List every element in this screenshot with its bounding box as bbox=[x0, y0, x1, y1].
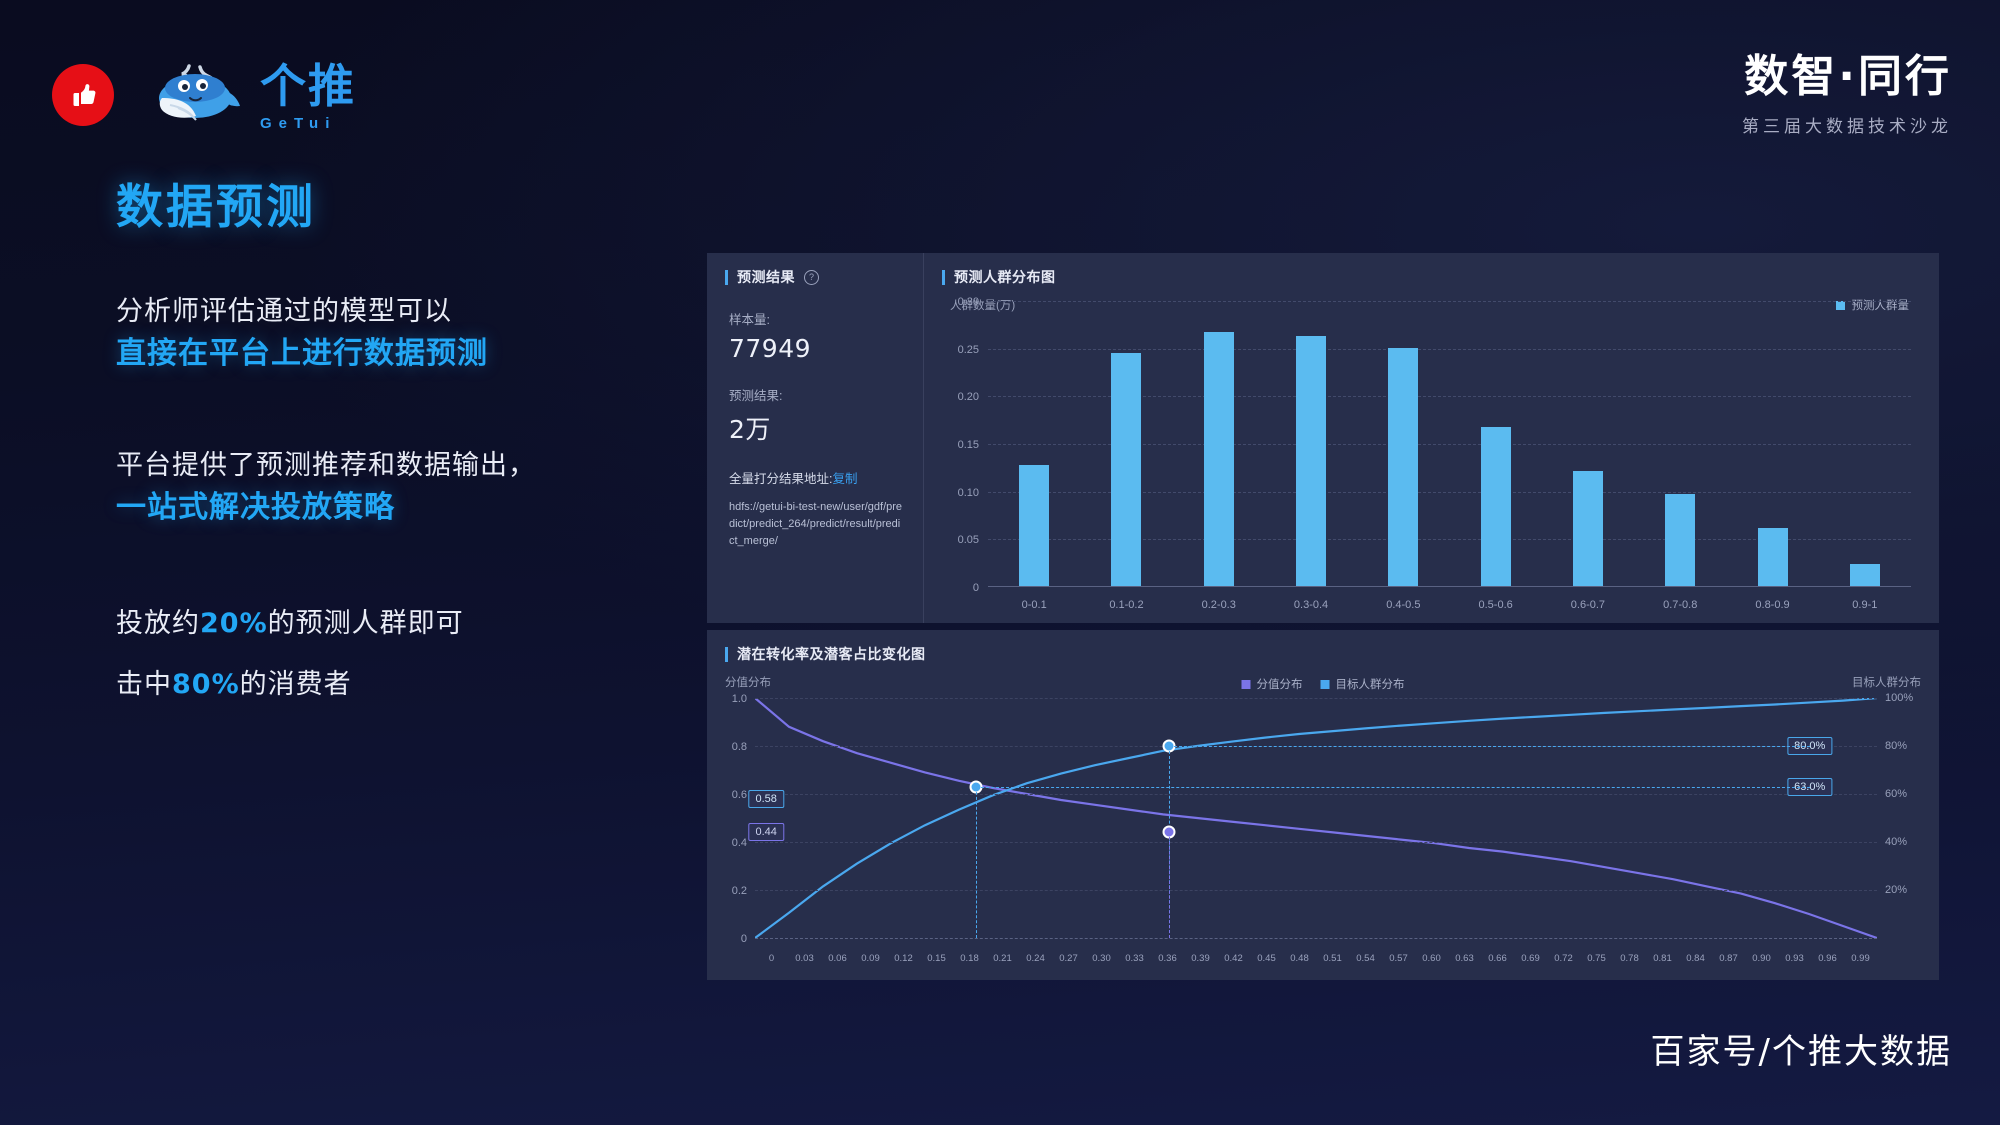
line-x-tick: 0.93 bbox=[1778, 953, 1811, 964]
line-series-score bbox=[755, 698, 1877, 938]
line-y-tick-right: 80% bbox=[1885, 740, 1907, 752]
line-chart-svg bbox=[755, 698, 1877, 938]
line-gridline: 0.6 bbox=[755, 794, 1877, 795]
line-x-tick: 0.78 bbox=[1613, 953, 1646, 964]
line-marker-guide bbox=[1169, 832, 1170, 938]
bar-chart-header: 预测人群分布图 bbox=[924, 253, 1939, 287]
line-gridline: 0 bbox=[755, 938, 1877, 939]
bar[interactable] bbox=[1019, 465, 1049, 587]
line-chart-header: 潜在转化率及潜客占比变化图 bbox=[707, 630, 1939, 664]
thumbs-up-icon bbox=[52, 64, 114, 126]
line-y-tick-right: 20% bbox=[1885, 884, 1907, 896]
bar-x-tick: 0.7-0.8 bbox=[1634, 599, 1726, 611]
line-x-tick: 0.90 bbox=[1745, 953, 1778, 964]
copy-line-6-a: 击中 bbox=[116, 669, 172, 699]
line-marker-guide bbox=[976, 787, 977, 938]
bar-x-tick: 0.6-0.7 bbox=[1542, 599, 1634, 611]
bar-x-tick: 0.3-0.4 bbox=[1265, 599, 1357, 611]
slide-copy: 分析师评估通过的模型可以 直接在平台上进行数据预测 平台提供了预测推荐和数据输出… bbox=[116, 292, 636, 705]
line-chart-area: 分值分布 目标人群分布 分值分布 目标人群分布 00.20.40.60.81.0… bbox=[707, 672, 1939, 980]
event-subtitle: 第三届大数据技术沙龙 bbox=[1742, 112, 1952, 137]
accent-bar-icon bbox=[942, 270, 945, 285]
copy-line-3: 平台提供了预测推荐和数据输出， bbox=[116, 446, 636, 485]
line-right-axis-label: 目标人群分布 bbox=[1852, 674, 1921, 690]
line-chart-plot: 00.20.40.60.81.020%40%60%80%100%0.580.44… bbox=[755, 698, 1877, 938]
line-y-tick-right: 60% bbox=[1885, 788, 1907, 800]
line-y-tick-left: 0.2 bbox=[732, 885, 747, 897]
bar[interactable] bbox=[1665, 494, 1695, 587]
line-gridline: 1.0 bbox=[755, 698, 1877, 699]
line-x-tick: 0.36 bbox=[1151, 953, 1184, 964]
bar[interactable] bbox=[1204, 332, 1234, 587]
line-x-tick: 0.24 bbox=[1019, 953, 1052, 964]
accent-bar-icon bbox=[725, 270, 728, 285]
prediction-result-panel: 预测结果 ? 样本量: 77949 预测结果: 2万 全量打分结果地址:复制 h… bbox=[707, 253, 923, 623]
copy-line-5: 投放约20%的预测人群即可 bbox=[116, 604, 636, 643]
line-x-tick: 0.60 bbox=[1415, 953, 1448, 964]
bar-slot bbox=[1357, 301, 1449, 587]
line-x-tick: 0.18 bbox=[953, 953, 986, 964]
line-x-tick: 0 bbox=[755, 953, 788, 964]
brand-name-en: GeTui bbox=[260, 115, 336, 132]
annotation-connector bbox=[1169, 746, 1810, 747]
whale-logo-icon bbox=[140, 58, 250, 132]
line-x-tick: 0.30 bbox=[1085, 953, 1118, 964]
bar-y-tick: 0.10 bbox=[958, 487, 979, 499]
line-x-tick: 0.42 bbox=[1217, 953, 1250, 964]
line-x-tick: 0.45 bbox=[1250, 953, 1283, 964]
line-x-tick: 0.06 bbox=[821, 953, 854, 964]
bar-x-tick: 0.4-0.5 bbox=[1357, 599, 1449, 611]
prediction-result-title: 预测结果 bbox=[737, 267, 795, 287]
bar-chart-plot: 00.050.100.150.200.250.30 bbox=[988, 301, 1911, 587]
line-x-tick: 0.27 bbox=[1052, 953, 1085, 964]
bar-y-tick: 0.15 bbox=[958, 439, 979, 451]
bar[interactable] bbox=[1850, 564, 1880, 587]
legend-label-target: 目标人群分布 bbox=[1336, 676, 1405, 692]
bar-slot bbox=[1726, 301, 1818, 587]
annotation-044: 0.44 bbox=[749, 823, 784, 841]
bar[interactable] bbox=[1758, 528, 1788, 587]
line-x-tick: 0.84 bbox=[1679, 953, 1712, 964]
bar-y-tick: 0.05 bbox=[958, 534, 979, 546]
page-title: 数据预测 bbox=[116, 168, 316, 237]
line-x-tick: 0.57 bbox=[1382, 953, 1415, 964]
dashboard-screenshot: 预测结果 ? 样本量: 77949 预测结果: 2万 全量打分结果地址:复制 h… bbox=[707, 253, 1939, 980]
bar-slot bbox=[1542, 301, 1634, 587]
slide-canvas: 个推 GeTui 数智·同行 第三届大数据技术沙龙 数据预测 分析师评估通过的模… bbox=[0, 0, 2000, 1125]
line-left-axis-label: 分值分布 bbox=[725, 674, 771, 690]
line-x-tick: 0.72 bbox=[1547, 953, 1580, 964]
line-x-tick: 0.21 bbox=[986, 953, 1019, 964]
line-x-tick: 0.99 bbox=[1844, 953, 1877, 964]
bar-slot bbox=[1819, 301, 1911, 587]
copy-highlight-80: 80% bbox=[172, 669, 240, 700]
line-y-tick-left: 0 bbox=[741, 933, 747, 945]
line-y-tick-right: 100% bbox=[1885, 692, 1913, 704]
accent-bar-icon bbox=[725, 647, 728, 662]
result-address-label: 全量打分结果地址: bbox=[729, 472, 832, 486]
conversion-chart-card: 潜在转化率及潜客占比变化图 分值分布 目标人群分布 分值分布 目标人群分布 bbox=[707, 630, 1939, 980]
bar-x-tick: 0.1-0.2 bbox=[1080, 599, 1172, 611]
brand-header: 个推 GeTui bbox=[52, 58, 356, 132]
bar[interactable] bbox=[1296, 336, 1326, 587]
line-x-tick: 0.54 bbox=[1349, 953, 1382, 964]
bar-y-tick: 0.20 bbox=[958, 391, 979, 403]
line-x-tick: 0.66 bbox=[1481, 953, 1514, 964]
copy-line-5-c: 的预测人群即可 bbox=[268, 608, 464, 638]
line-x-tick: 0.39 bbox=[1184, 953, 1217, 964]
line-x-tick: 0.51 bbox=[1316, 953, 1349, 964]
line-gridline: 0.4 bbox=[755, 842, 1877, 843]
bar[interactable] bbox=[1111, 353, 1141, 587]
getui-logo: 个推 GeTui bbox=[140, 58, 356, 132]
line-x-tick: 0.12 bbox=[887, 953, 920, 964]
bar-slot bbox=[1173, 301, 1265, 587]
brand-name-cn: 个推 bbox=[260, 63, 356, 109]
line-x-tick: 0.63 bbox=[1448, 953, 1481, 964]
line-chart-title: 潜在转化率及潜客占比变化图 bbox=[737, 644, 926, 664]
copy-line-5-a: 投放约 bbox=[116, 608, 200, 638]
line-y-tick-left: 0.8 bbox=[732, 741, 747, 753]
copy-line-2: 直接在平台上进行数据预测 bbox=[116, 331, 636, 376]
legend-item-target[interactable]: 目标人群分布 bbox=[1321, 676, 1405, 692]
line-gridline: 0.2 bbox=[755, 890, 1877, 891]
bar-x-tick: 0.8-0.9 bbox=[1726, 599, 1818, 611]
line-series-target bbox=[755, 698, 1877, 938]
sample-size-value: 77949 bbox=[729, 334, 903, 363]
bar-slot bbox=[1265, 301, 1357, 587]
event-title: 数智·同行 bbox=[1742, 52, 1952, 103]
line-x-tick: 0.75 bbox=[1580, 953, 1613, 964]
line-x-tick: 0.87 bbox=[1712, 953, 1745, 964]
copy-line-6-c: 的消费者 bbox=[240, 669, 352, 699]
bar-slot bbox=[1449, 301, 1541, 587]
bar-chart-x-labels: 0-0.10.1-0.20.2-0.30.3-0.40.4-0.50.5-0.6… bbox=[988, 599, 1911, 611]
bar-x-tick: 0.9-1 bbox=[1819, 599, 1911, 611]
bar-slot bbox=[1634, 301, 1726, 587]
copy-highlight-20: 20% bbox=[200, 608, 268, 639]
prediction-result-value: 2万 bbox=[729, 410, 903, 446]
question-mark-icon[interactable]: ? bbox=[804, 270, 819, 285]
bar-chart-title: 预测人群分布图 bbox=[954, 267, 1056, 287]
result-path-text: hdfs://getui-bi-test-new/user/gdf/predic… bbox=[729, 499, 903, 550]
bar-x-tick: 0.2-0.3 bbox=[1173, 599, 1265, 611]
copy-line-1: 分析师评估通过的模型可以 bbox=[116, 292, 636, 331]
line-x-tick: 0.48 bbox=[1283, 953, 1316, 964]
line-y-tick-left: 1.0 bbox=[732, 693, 747, 705]
line-chart-legend[interactable]: 分值分布 目标人群分布 bbox=[1242, 676, 1405, 692]
result-address-row: 全量打分结果地址:复制 bbox=[729, 468, 903, 487]
legend-swatch-target bbox=[1321, 680, 1330, 689]
bar-y-tick: 0.25 bbox=[958, 344, 979, 356]
line-x-tick: 0.33 bbox=[1118, 953, 1151, 964]
legend-swatch-score bbox=[1242, 680, 1251, 689]
bar[interactable] bbox=[1481, 427, 1511, 587]
bar[interactable] bbox=[1573, 471, 1603, 587]
bar-chart-x-axis bbox=[988, 586, 1911, 587]
bar-chart-panel: 预测人群分布图 人群数量(万) 预测人群量 00.050.100.150.200… bbox=[924, 253, 1939, 623]
line-x-tick: 0.81 bbox=[1646, 953, 1679, 964]
bar[interactable] bbox=[1388, 348, 1418, 587]
bar-slot bbox=[988, 301, 1080, 587]
legend-label-score: 分值分布 bbox=[1257, 676, 1303, 692]
line-chart-x-labels: 00.030.060.090.120.150.180.210.240.270.3… bbox=[755, 953, 1877, 964]
line-x-tick: 0.96 bbox=[1811, 953, 1844, 964]
line-y-tick-left: 0.6 bbox=[732, 789, 747, 801]
sample-size-label: 样本量: bbox=[729, 309, 903, 328]
copy-line-6: 击中80%的消费者 bbox=[116, 665, 636, 704]
prediction-result-label: 预测结果: bbox=[729, 385, 903, 404]
line-x-tick: 0.09 bbox=[854, 953, 887, 964]
prediction-top-card: 预测结果 ? 样本量: 77949 预测结果: 2万 全量打分结果地址:复制 h… bbox=[707, 253, 1939, 623]
annotation-058: 0.58 bbox=[749, 790, 784, 808]
line-y-tick-right: 40% bbox=[1885, 836, 1907, 848]
line-y-tick-left: 0.4 bbox=[732, 837, 747, 849]
bar-slot bbox=[1080, 301, 1172, 587]
bar-gridline: 0 bbox=[988, 587, 1911, 588]
annotation-connector bbox=[976, 787, 1810, 788]
bar-chart-bars bbox=[988, 301, 1911, 587]
bar-y-tick: 0 bbox=[973, 582, 979, 594]
bar-x-tick: 0-0.1 bbox=[988, 599, 1080, 611]
bar-x-tick: 0.5-0.6 bbox=[1449, 599, 1541, 611]
line-x-tick: 0.15 bbox=[920, 953, 953, 964]
prediction-result-header: 预测结果 ? bbox=[707, 253, 923, 287]
copy-line-4: 一站式解决投放策略 bbox=[116, 485, 636, 530]
event-header: 数智·同行 第三届大数据技术沙龙 bbox=[1742, 52, 1952, 137]
line-x-tick: 0.69 bbox=[1514, 953, 1547, 964]
bar-y-tick: 0.30 bbox=[958, 296, 979, 308]
footer-label: 百家号/个推大数据 bbox=[1651, 1024, 1952, 1073]
copy-link[interactable]: 复制 bbox=[832, 472, 857, 486]
legend-item-score[interactable]: 分值分布 bbox=[1242, 676, 1303, 692]
line-x-tick: 0.03 bbox=[788, 953, 821, 964]
